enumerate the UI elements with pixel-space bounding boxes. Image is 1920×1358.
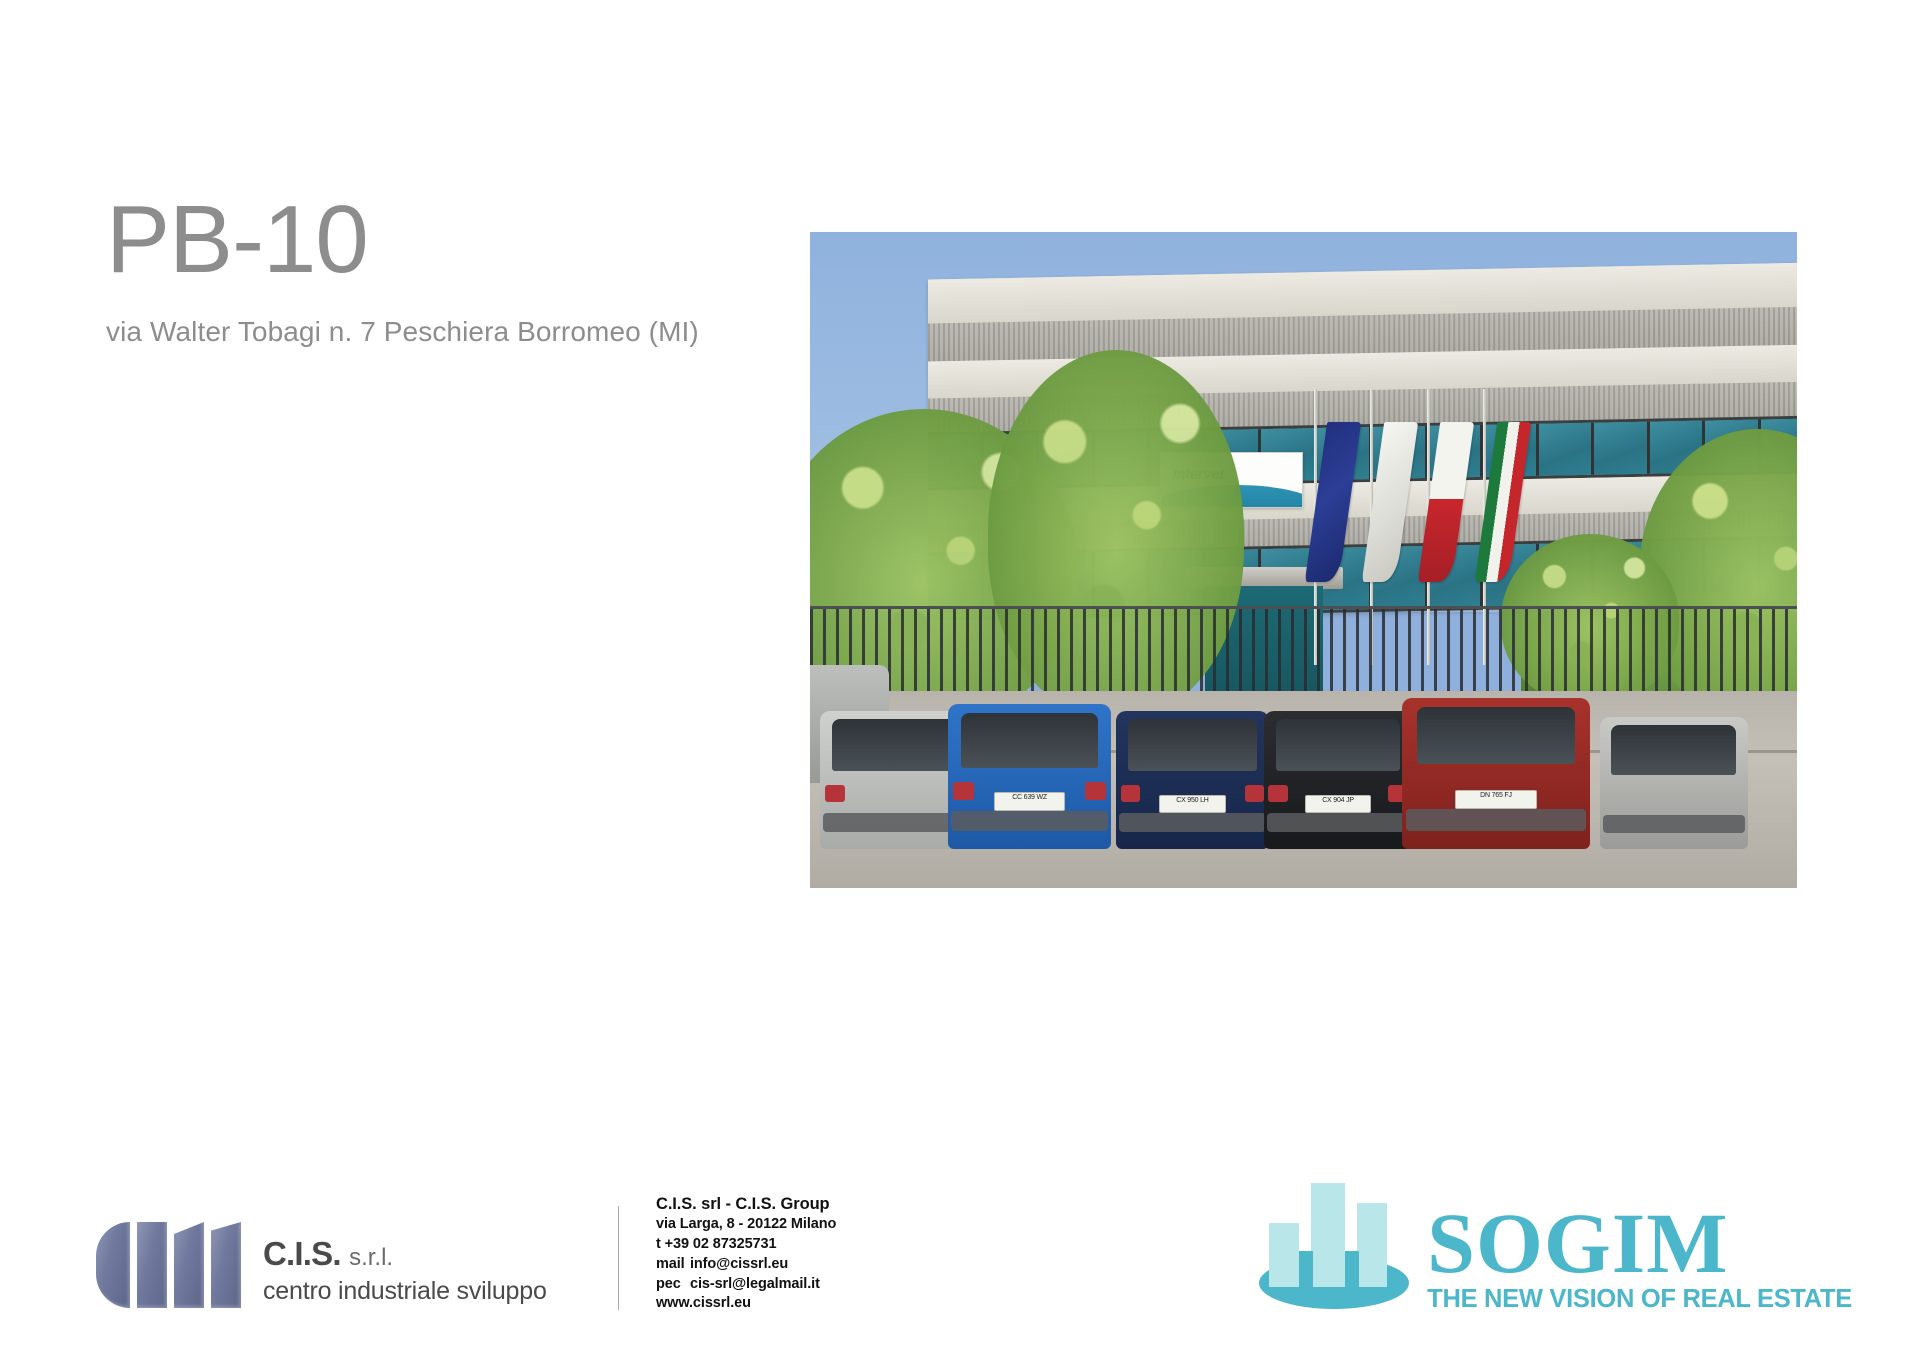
parked-car-red: DN 765 FJ [1402,698,1590,849]
car-window [832,719,965,771]
company-address: via Larga, 8 - 20122 Milano [656,1215,836,1235]
tail-light [1121,785,1141,802]
page-title: PB-10 [106,190,826,291]
title-block: PB-10 via Walter Tobagi n. 7 Peschiera B… [106,190,826,348]
car-bumper [1603,815,1745,833]
sogim-logo: SOGIM THE NEW VISION OF REAL ESTATE [1259,1204,1852,1314]
cis-logo: C.I.S. s.r.l. centro industriale svilupp… [96,1222,547,1308]
company-mail: mailinfo@cissrl.eu [656,1255,836,1275]
page-subtitle: via Walter Tobagi n. 7 Peschiera Borrome… [106,315,826,349]
pec-label: pec [656,1275,690,1295]
parked-car-black: CX 904 JP [1264,711,1412,849]
photo-content: Intervet [810,232,1797,888]
license-plate: CX 950 LH [1159,795,1226,813]
license-plate: CX 904 JP [1305,795,1370,813]
car-window [1276,719,1400,771]
cis-tagline: centro industriale sviluppo [263,1277,547,1306]
cis-name-text: C.I.S. [263,1235,341,1272]
cis-suffix: s.r.l. [349,1244,393,1271]
building-photo: Intervet [810,232,1797,888]
car-window [1128,719,1257,771]
cis-mark-icon [96,1222,241,1308]
company-pec: peccis-srl@legalmail.it [656,1275,836,1295]
mail-value[interactable]: info@cissrl.eu [690,1256,788,1272]
car-bumper [1406,809,1586,830]
page-footer: C.I.S. s.r.l. centro industriale svilupp… [0,1158,1920,1358]
company-phone: t +39 02 87325731 [656,1235,836,1255]
company-website[interactable]: www.cissrl.eu [656,1294,836,1314]
document-page: PB-10 via Walter Tobagi n. 7 Peschiera B… [0,0,1920,1358]
tail-light [1245,785,1265,802]
sogim-wordmark: SOGIM THE NEW VISION OF REAL ESTATE [1427,1204,1852,1314]
car-window [1611,725,1735,775]
parked-car-smart [1600,717,1748,848]
sogim-name: SOGIM [1427,1204,1852,1283]
sogim-buildings-icon [1259,1205,1409,1313]
pec-value[interactable]: cis-srl@legalmail.it [690,1276,820,1292]
car-window [1417,707,1575,764]
car-bumper [1119,813,1266,832]
car-window [961,713,1098,768]
tail-light [825,785,846,802]
cis-name: C.I.S. s.r.l. [263,1235,547,1273]
parked-car-navy: CX 950 LH [1116,711,1269,849]
footer-divider [618,1206,619,1310]
perimeter-fence [810,606,1797,698]
license-plate: CC 639 WZ [994,792,1066,811]
license-plate: DN 765 FJ [1455,790,1538,810]
car-bumper [951,811,1107,831]
contact-block: C.I.S. srl - C.I.S. Group via Larga, 8 -… [656,1193,836,1314]
tail-light [1085,782,1106,799]
company-name: C.I.S. srl - C.I.S. Group [656,1193,836,1215]
sogim-tagline: THE NEW VISION OF REAL ESTATE [1427,1285,1852,1314]
car-bumper [1267,813,1409,832]
parked-car-blue: CC 639 WZ [948,704,1111,848]
mail-label: mail [656,1255,690,1275]
tail-light [1268,785,1287,802]
cis-wordmark: C.I.S. s.r.l. centro industriale svilupp… [263,1235,547,1308]
tail-light [953,782,974,799]
